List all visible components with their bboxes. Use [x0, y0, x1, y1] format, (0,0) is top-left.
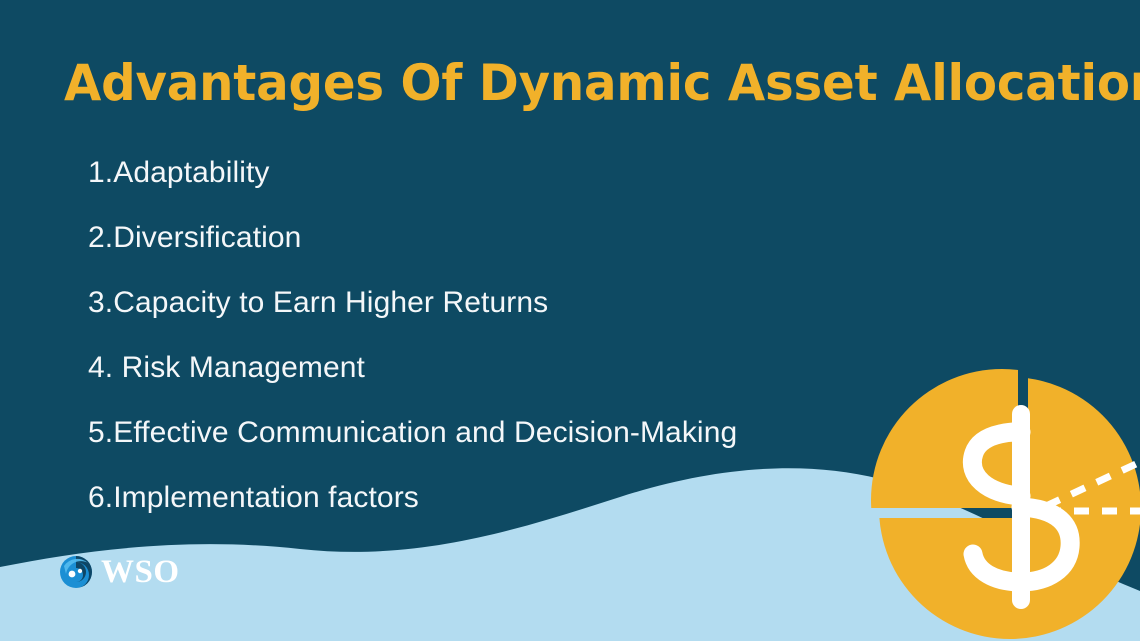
list-item-number: 1. [88, 158, 113, 188]
list-item-label: Diversification [113, 223, 301, 253]
list-item: 6. Implementation factors [88, 477, 737, 519]
wso-wordmark: WSO [101, 556, 180, 589]
pie-chart-dollar-icon [870, 368, 1140, 641]
list-item: 4. Risk Management [88, 347, 737, 389]
list-item-number: 3. [88, 288, 113, 318]
list-item-number: 4. [88, 353, 113, 383]
list-item-number: 5. [88, 418, 113, 448]
list-item-label: Adaptability [113, 158, 269, 188]
list-item-number: 6. [88, 483, 113, 513]
list-item-label: Capacity to Earn Higher Returns [113, 288, 548, 318]
list-item: 1. Adaptability [88, 152, 737, 194]
slide-canvas: Advantages Of Dynamic Asset Allocation 1… [0, 0, 1140, 641]
list-item: 2. Diversification [88, 217, 737, 259]
list-item-label: Risk Management [113, 353, 365, 383]
list-item: 3. Capacity to Earn Higher Returns [88, 282, 737, 324]
page-title: Advantages Of Dynamic Asset Allocation [64, 56, 1140, 111]
wso-swirl-icon [56, 552, 96, 592]
list-item-label: Effective Communication and Decision-Mak… [113, 418, 737, 448]
list-item-label: Implementation factors [113, 483, 419, 513]
advantages-list: 1. Adaptability 2. Diversification 3. Ca… [88, 152, 737, 542]
wso-logo[interactable]: WSO [56, 552, 180, 592]
list-item-number: 2. [88, 223, 113, 253]
list-item: 5. Effective Communication and Decision-… [88, 412, 737, 454]
